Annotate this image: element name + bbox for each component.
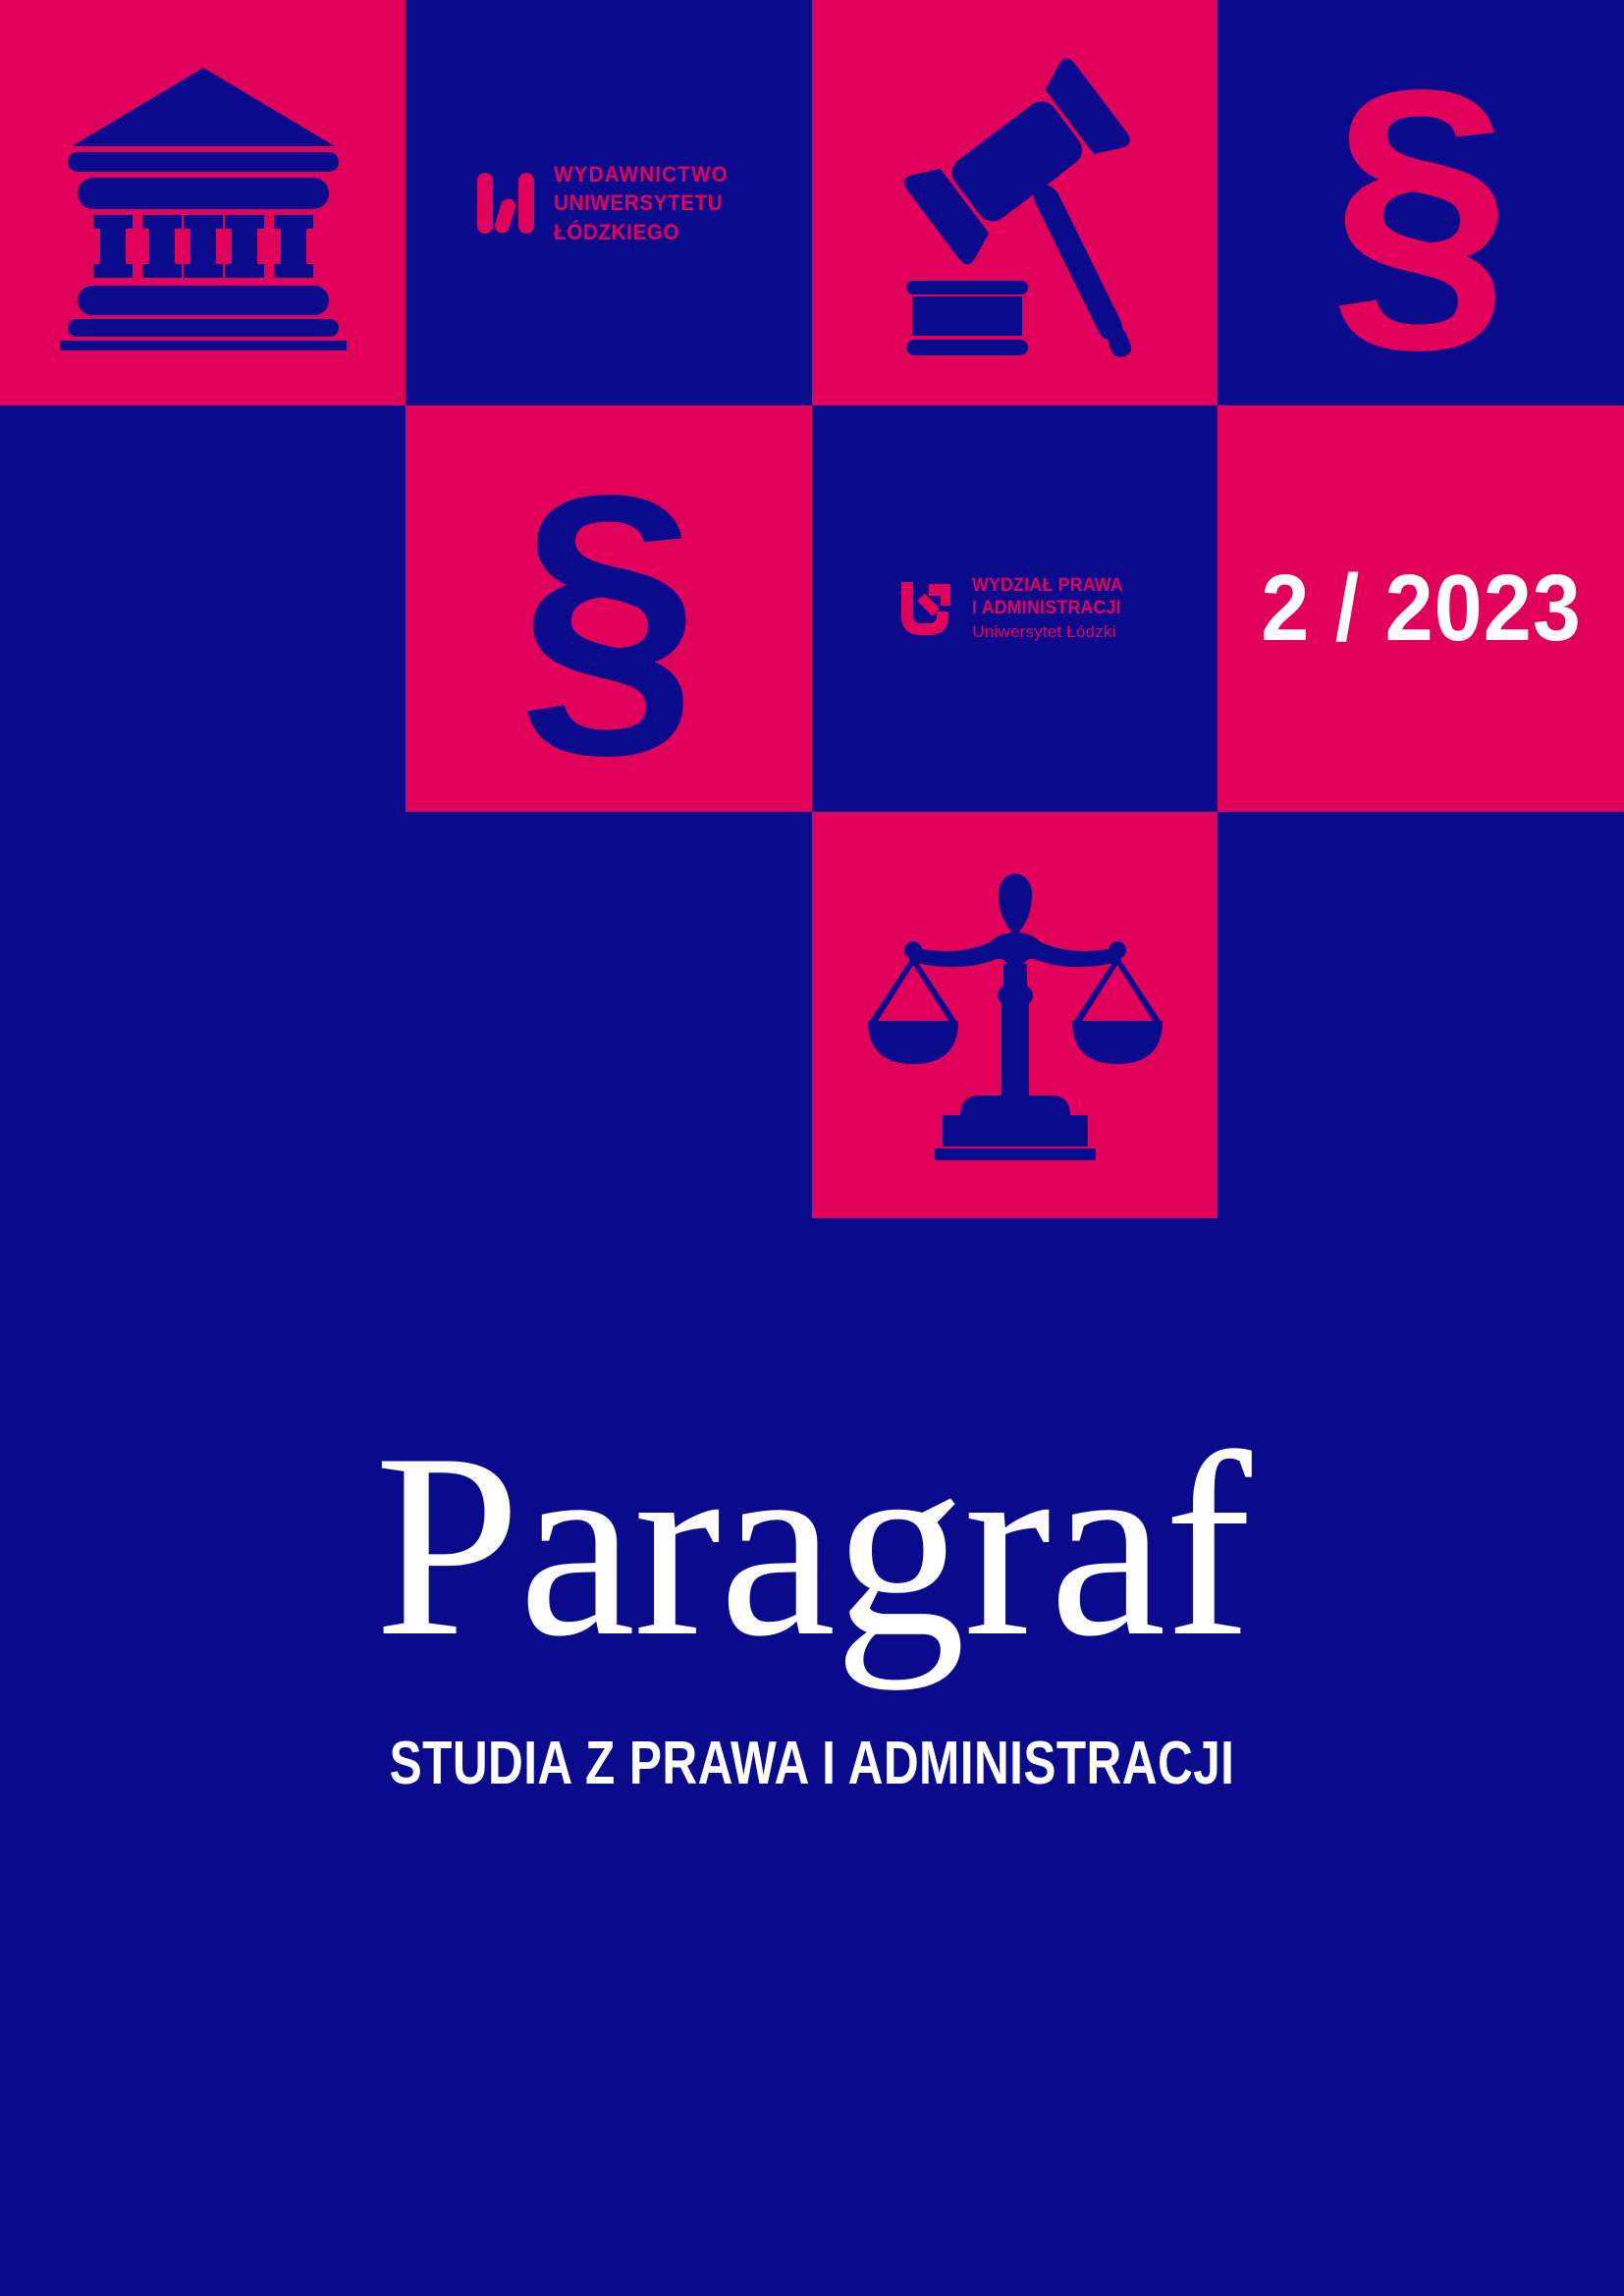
paragraph-sign-icon: § bbox=[1330, 77, 1511, 329]
issue-number: 2 / 2023 bbox=[1261, 555, 1582, 663]
publisher-line-2: UNIWERSYTETU bbox=[554, 188, 729, 217]
grid-cell-empty-r2c3 bbox=[1218, 812, 1624, 1218]
journal-subtitle: STUDIA Z PRAWA I ADMINISTRACJI bbox=[162, 1734, 1461, 1794]
grid-cell-empty-r2c1 bbox=[406, 812, 812, 1218]
publisher-logo: WYDAWNICTWO UNIWERSYTETU ŁÓDZKIEGO bbox=[477, 160, 739, 246]
ul-arrow-logo-mark bbox=[895, 578, 956, 639]
grid-cell-empty-r1c0 bbox=[0, 405, 406, 812]
faculty-logo: WYDZIAŁ PRAWA I ADMINISTRACJI Uniwersyte… bbox=[895, 574, 1134, 643]
grid-cell-publisher-logo: WYDAWNICTWO UNIWERSYTETU ŁÓDZKIEGO bbox=[406, 0, 812, 406]
scales-of-justice-icon bbox=[858, 868, 1172, 1162]
grid-cell-courthouse bbox=[0, 0, 406, 406]
publisher-line-3: ŁÓDZKIEGO bbox=[554, 218, 729, 246]
masthead: Paragraf STUDIA Z PRAWA I ADMINISTRACJI bbox=[0, 1414, 1624, 1794]
publisher-line-1: WYDAWNICTWO bbox=[554, 160, 729, 188]
gavel-icon bbox=[863, 41, 1167, 365]
grid-cell-issue-number: 2 / 2023 bbox=[1218, 405, 1624, 812]
checkerboard-grid: WYDAWNICTWO UNIWERSYTETU ŁÓDZKIEGO bbox=[0, 0, 1624, 1218]
grid-cell-paragraph-sign-top: § bbox=[1218, 0, 1624, 406]
grid-cell-faculty-logo: WYDZIAŁ PRAWA I ADMINISTRACJI Uniwersyte… bbox=[812, 405, 1218, 812]
grid-cell-paragraph-sign-mid: § bbox=[406, 405, 812, 812]
courthouse-icon bbox=[56, 56, 351, 350]
grid-cell-gavel bbox=[812, 0, 1218, 406]
faculty-logo-text: WYDZIAŁ PRAWA I ADMINISTRACJI Uniwersyte… bbox=[972, 574, 1134, 643]
wul-logo-mark bbox=[477, 173, 534, 234]
faculty-line-3: Uniwersytet Łódzki bbox=[972, 621, 1134, 643]
publisher-logo-text: WYDAWNICTWO UNIWERSYTETU ŁÓDZKIEGO bbox=[554, 160, 729, 246]
faculty-line-2: I ADMINISTRACJI bbox=[972, 597, 1123, 619]
grid-cell-empty-r2c0 bbox=[0, 812, 406, 1218]
faculty-line-1: WYDZIAŁ PRAWA bbox=[972, 574, 1123, 597]
journal-title: Paragraf bbox=[0, 1414, 1624, 1677]
journal-cover: WYDAWNICTWO UNIWERSYTETU ŁÓDZKIEGO bbox=[0, 0, 1624, 2296]
grid-cell-scales bbox=[812, 812, 1218, 1218]
paragraph-sign-icon: § bbox=[518, 482, 699, 734]
